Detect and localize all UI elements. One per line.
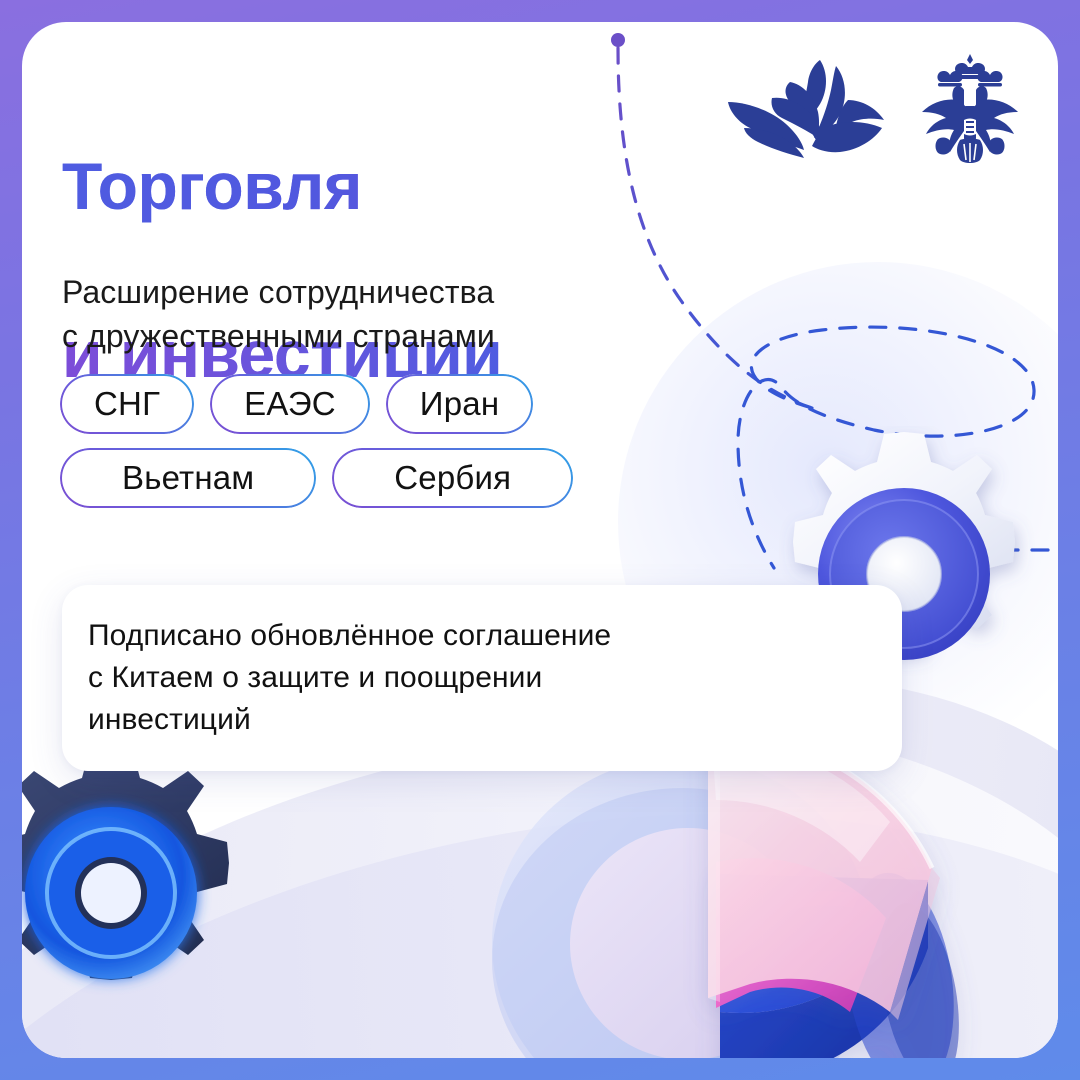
logo-group xyxy=(724,50,1022,168)
pill-vietnam-label: Вьетнам xyxy=(122,459,254,497)
title-line-1: Торговля xyxy=(62,144,502,228)
pill-sng-label: СНГ xyxy=(94,385,160,423)
pill-serbia-label: Сербия xyxy=(394,459,511,497)
gear-dark-icon xyxy=(22,738,266,1048)
highlight-note-text: Подписано обновлённое соглашение с Китае… xyxy=(62,615,637,741)
pill-iran[interactable]: Иран xyxy=(386,374,533,434)
country-pill-row-1: СНГ ЕАЭС Иран xyxy=(60,374,740,434)
country-pill-group: СНГ ЕАЭС Иран Вьетнам Сербия xyxy=(60,374,740,522)
pill-vietnam[interactable]: Вьетнам xyxy=(60,448,316,508)
pill-serbia[interactable]: Сербия xyxy=(332,448,573,508)
pill-iran-label: Иран xyxy=(420,385,499,423)
poster-canvas: Торговля и инвестиции Расширение сотрудн… xyxy=(22,22,1058,1058)
highlight-note-card: Подписано обновлённое соглашение с Китае… xyxy=(62,585,902,771)
dashed-path-start-dot xyxy=(611,33,625,47)
poster-root: Торговля и инвестиции Расширение сотрудн… xyxy=(0,0,1080,1080)
pill-sng[interactable]: СНГ xyxy=(60,374,194,434)
pill-eaes-label: ЕАЭС xyxy=(244,385,336,423)
pill-eaes[interactable]: ЕАЭС xyxy=(210,374,370,434)
page-subtitle: Расширение сотрудничества с дружественны… xyxy=(62,270,495,358)
country-pill-row-2: Вьетнам Сербия xyxy=(60,448,740,508)
ministry-flower-emblem-icon xyxy=(724,54,896,164)
russia-coat-of-arms-eagle-icon xyxy=(918,50,1022,168)
pie-slice-pink xyxy=(708,734,940,1020)
